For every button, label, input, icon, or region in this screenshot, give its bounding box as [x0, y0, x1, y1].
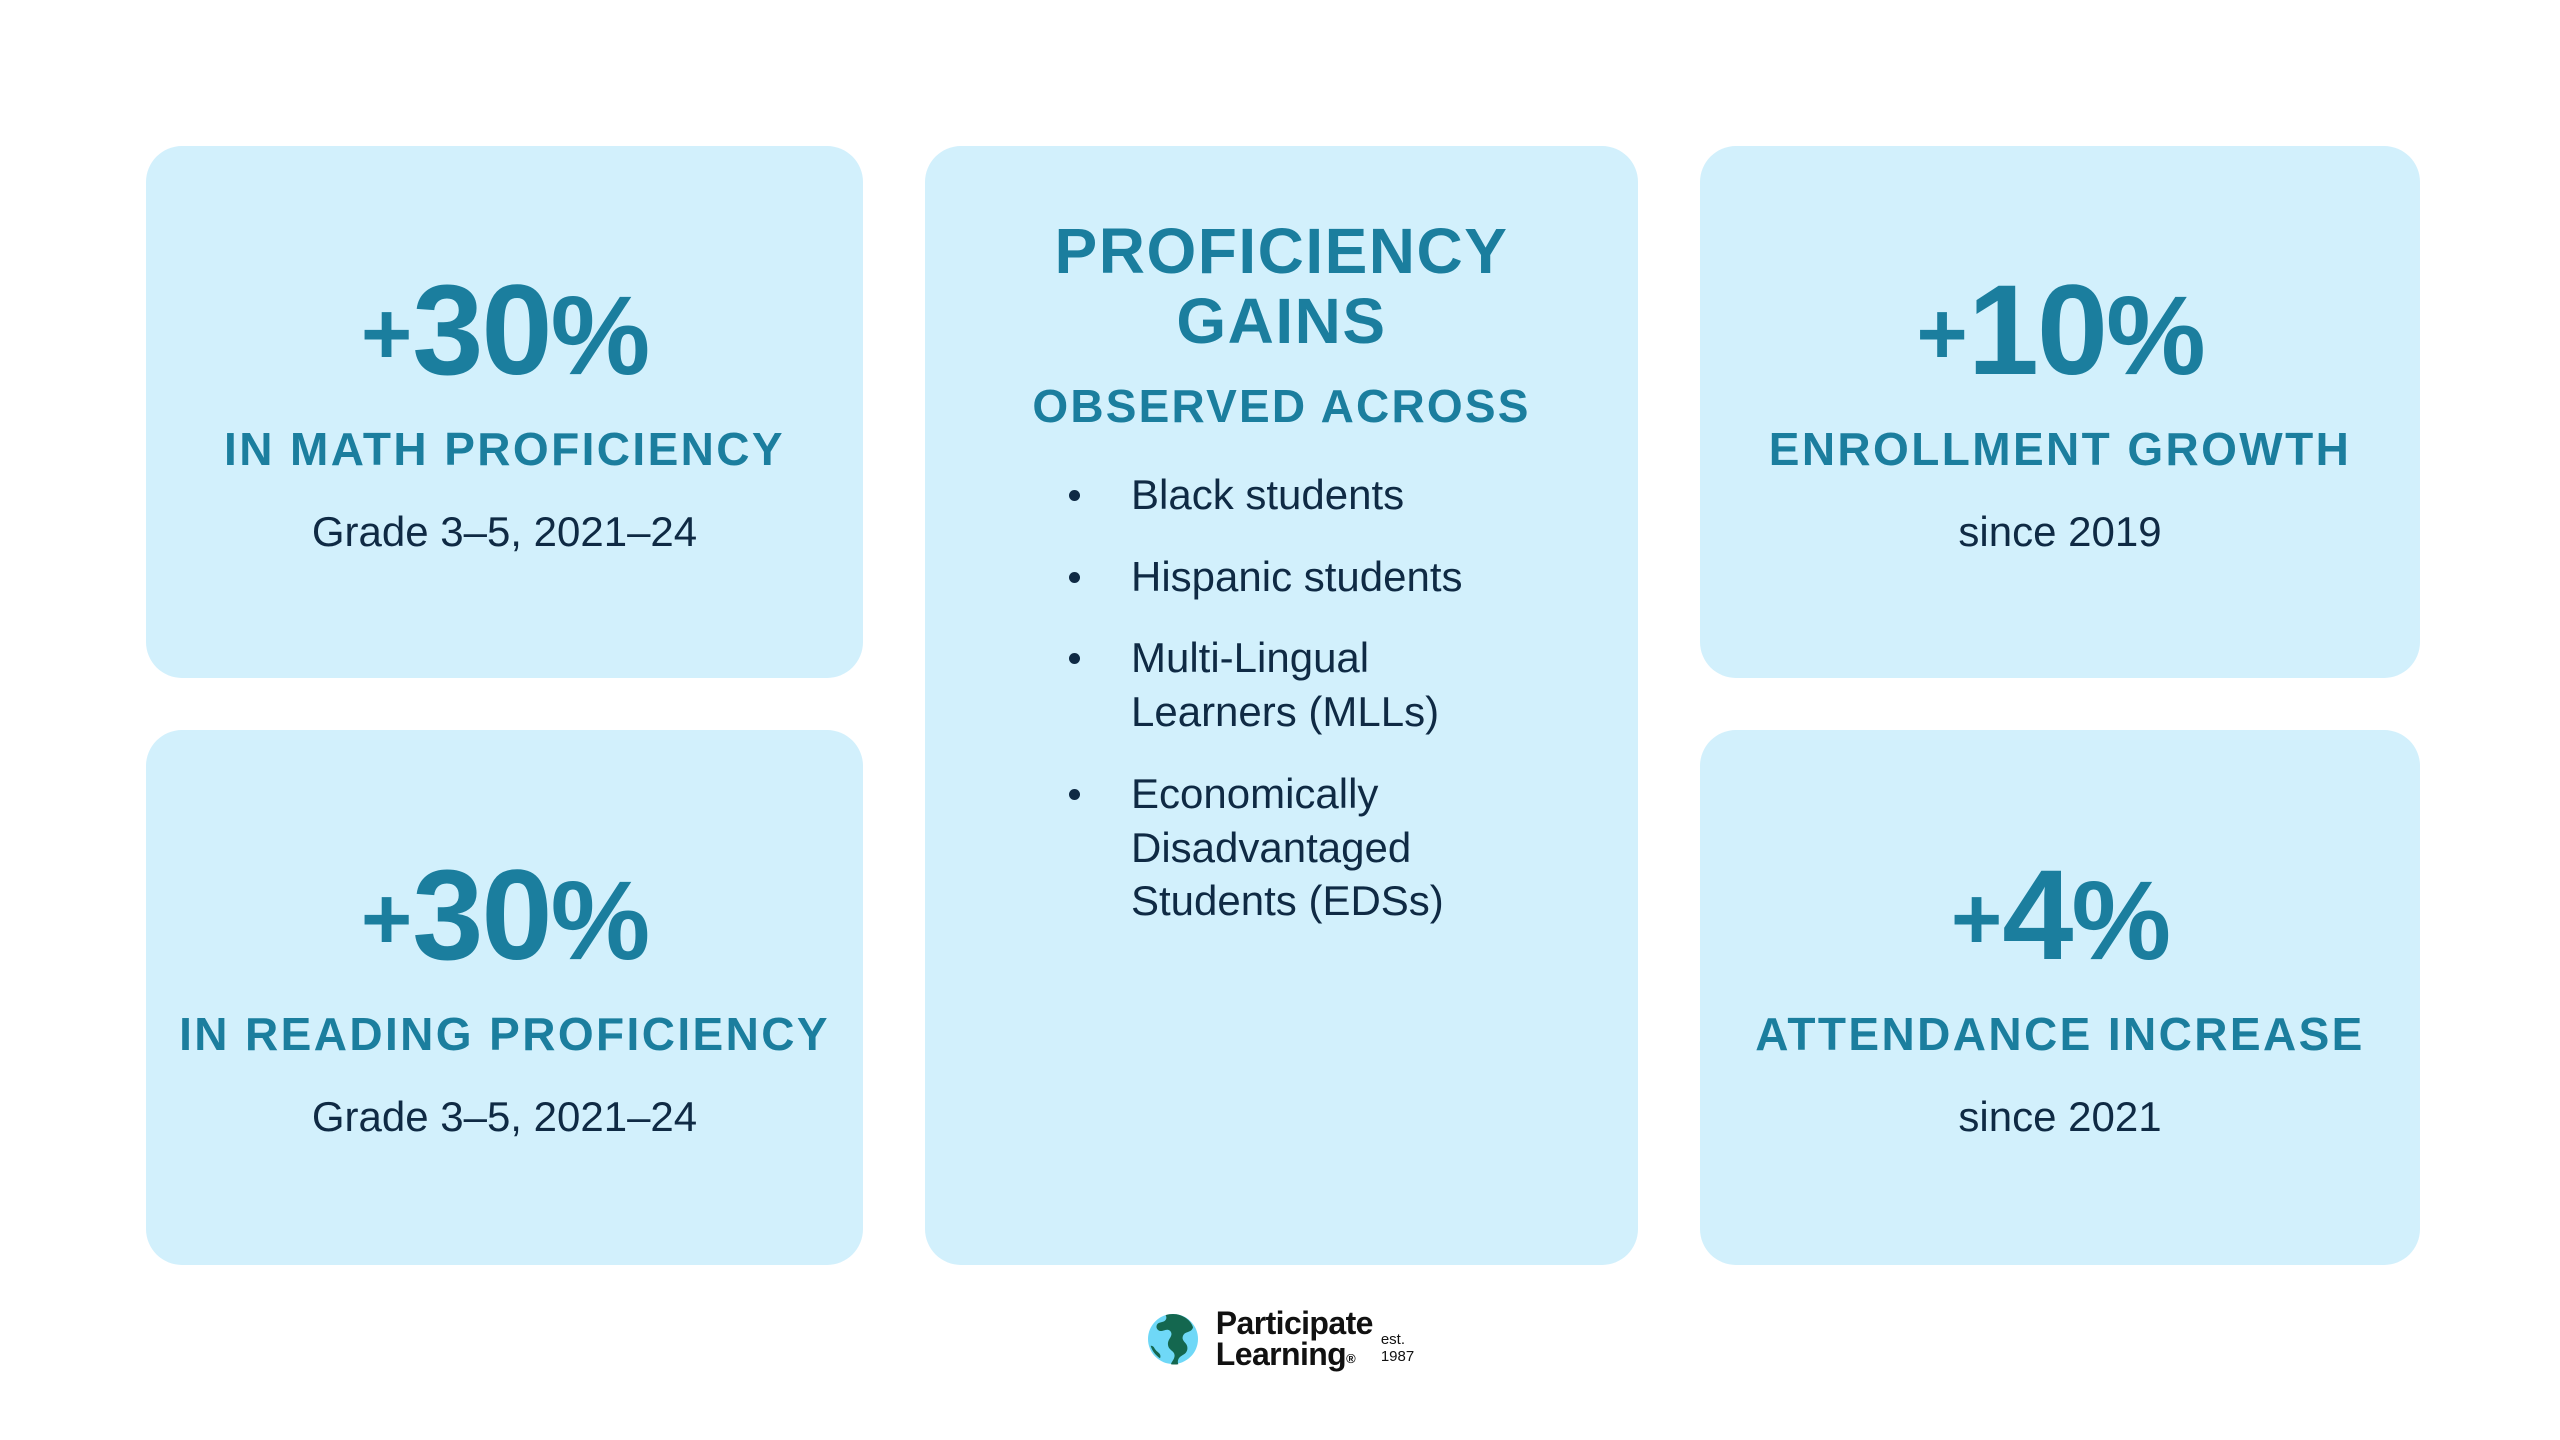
list-item: Multi-Lingual Learners (MLLs)	[1063, 631, 1493, 739]
math-value: 30	[412, 259, 550, 402]
bullet-dot-icon	[1069, 572, 1080, 583]
participate-learning-logo: Participate Learning® est. 1987	[1146, 1308, 1414, 1371]
attendance-percent-sign: %	[2071, 858, 2169, 983]
attendance-stat-number: +4%	[1951, 852, 2169, 980]
math-stat-label: IN MATH PROFICIENCY	[224, 421, 785, 477]
logo-learning-text: Learning	[1216, 1336, 1346, 1372]
enrollment-percent-sign: %	[2106, 273, 2204, 398]
est-label: est.	[1381, 1332, 1414, 1349]
est-year: 1987	[1381, 1349, 1414, 1366]
list-item-label: Black students	[1131, 471, 1404, 518]
card-attendance-increase: +4% ATTENDANCE INCREASE since 2021	[1700, 730, 2420, 1265]
attendance-plus-sign: +	[1951, 869, 2002, 968]
bullet-dot-icon	[1069, 490, 1080, 501]
list-item-label: Multi-Lingual Learners (MLLs)	[1131, 634, 1439, 735]
reading-stat-number: +30%	[361, 852, 648, 980]
proficiency-gains-title: PROFICIENCY GAINS	[996, 216, 1566, 357]
math-stat-number: +30%	[361, 267, 648, 395]
card-math-proficiency: +30% IN MATH PROFICIENCY Grade 3–5, 2021…	[146, 146, 863, 678]
list-item-label: Hispanic students	[1131, 553, 1463, 600]
reading-stat-caption: Grade 3–5, 2021–24	[312, 1092, 697, 1142]
enrollment-stat-label: ENROLLMENT GROWTH	[1769, 421, 2352, 477]
enrollment-stat-caption: since 2019	[1958, 507, 2161, 557]
card-reading-proficiency: +30% IN READING PROFICIENCY Grade 3–5, 2…	[146, 730, 863, 1265]
reading-percent-sign: %	[551, 858, 649, 983]
proficiency-gains-subtitle: OBSERVED ACROSS	[1032, 379, 1530, 434]
infographic-page: +30% IN MATH PROFICIENCY Grade 3–5, 2021…	[0, 0, 2560, 1440]
list-item: Black students	[1063, 468, 1493, 522]
card-enrollment-growth: +10% ENROLLMENT GROWTH since 2019	[1700, 146, 2420, 678]
attendance-value: 4	[2002, 844, 2071, 987]
reading-stat-label: IN READING PROFICIENCY	[179, 1006, 830, 1062]
attendance-stat-label: ATTENDANCE INCREASE	[1755, 1006, 2365, 1062]
footer: Participate Learning® est. 1987	[0, 1308, 2560, 1371]
registered-mark: ®	[1346, 1351, 1355, 1366]
bullet-dot-icon	[1069, 653, 1080, 664]
logo-line-participate: Participate	[1216, 1308, 1373, 1339]
logo-wordmark: Participate Learning® est. 1987	[1216, 1308, 1414, 1371]
logo-line-learning: Learning®	[1216, 1339, 1373, 1370]
math-plus-sign: +	[361, 284, 412, 383]
list-item: Hispanic students	[1063, 550, 1493, 604]
reading-value: 30	[412, 844, 550, 987]
bullet-dot-icon	[1069, 789, 1080, 800]
math-stat-caption: Grade 3–5, 2021–24	[312, 507, 697, 557]
enrollment-plus-sign: +	[1916, 284, 1967, 383]
stats-card-grid: +30% IN MATH PROFICIENCY Grade 3–5, 2021…	[146, 146, 2420, 1265]
list-item: Economically Disadvantaged Students (EDS…	[1063, 767, 1493, 928]
list-item-label: Economically Disadvantaged Students (EDS…	[1131, 770, 1444, 925]
math-percent-sign: %	[551, 273, 649, 398]
globe-icon	[1146, 1312, 1200, 1366]
enrollment-stat-number: +10%	[1916, 267, 2203, 395]
logo-established: est. 1987	[1381, 1332, 1414, 1371]
student-groups-list: Black students Hispanic students Multi-L…	[925, 468, 1638, 928]
card-proficiency-gains: PROFICIENCY GAINS OBSERVED ACROSS Black …	[925, 146, 1638, 1265]
attendance-stat-caption: since 2021	[1958, 1092, 2161, 1142]
enrollment-value: 10	[1968, 259, 2106, 402]
reading-plus-sign: +	[361, 869, 412, 968]
logo-text-lines: Participate Learning®	[1216, 1308, 1373, 1371]
